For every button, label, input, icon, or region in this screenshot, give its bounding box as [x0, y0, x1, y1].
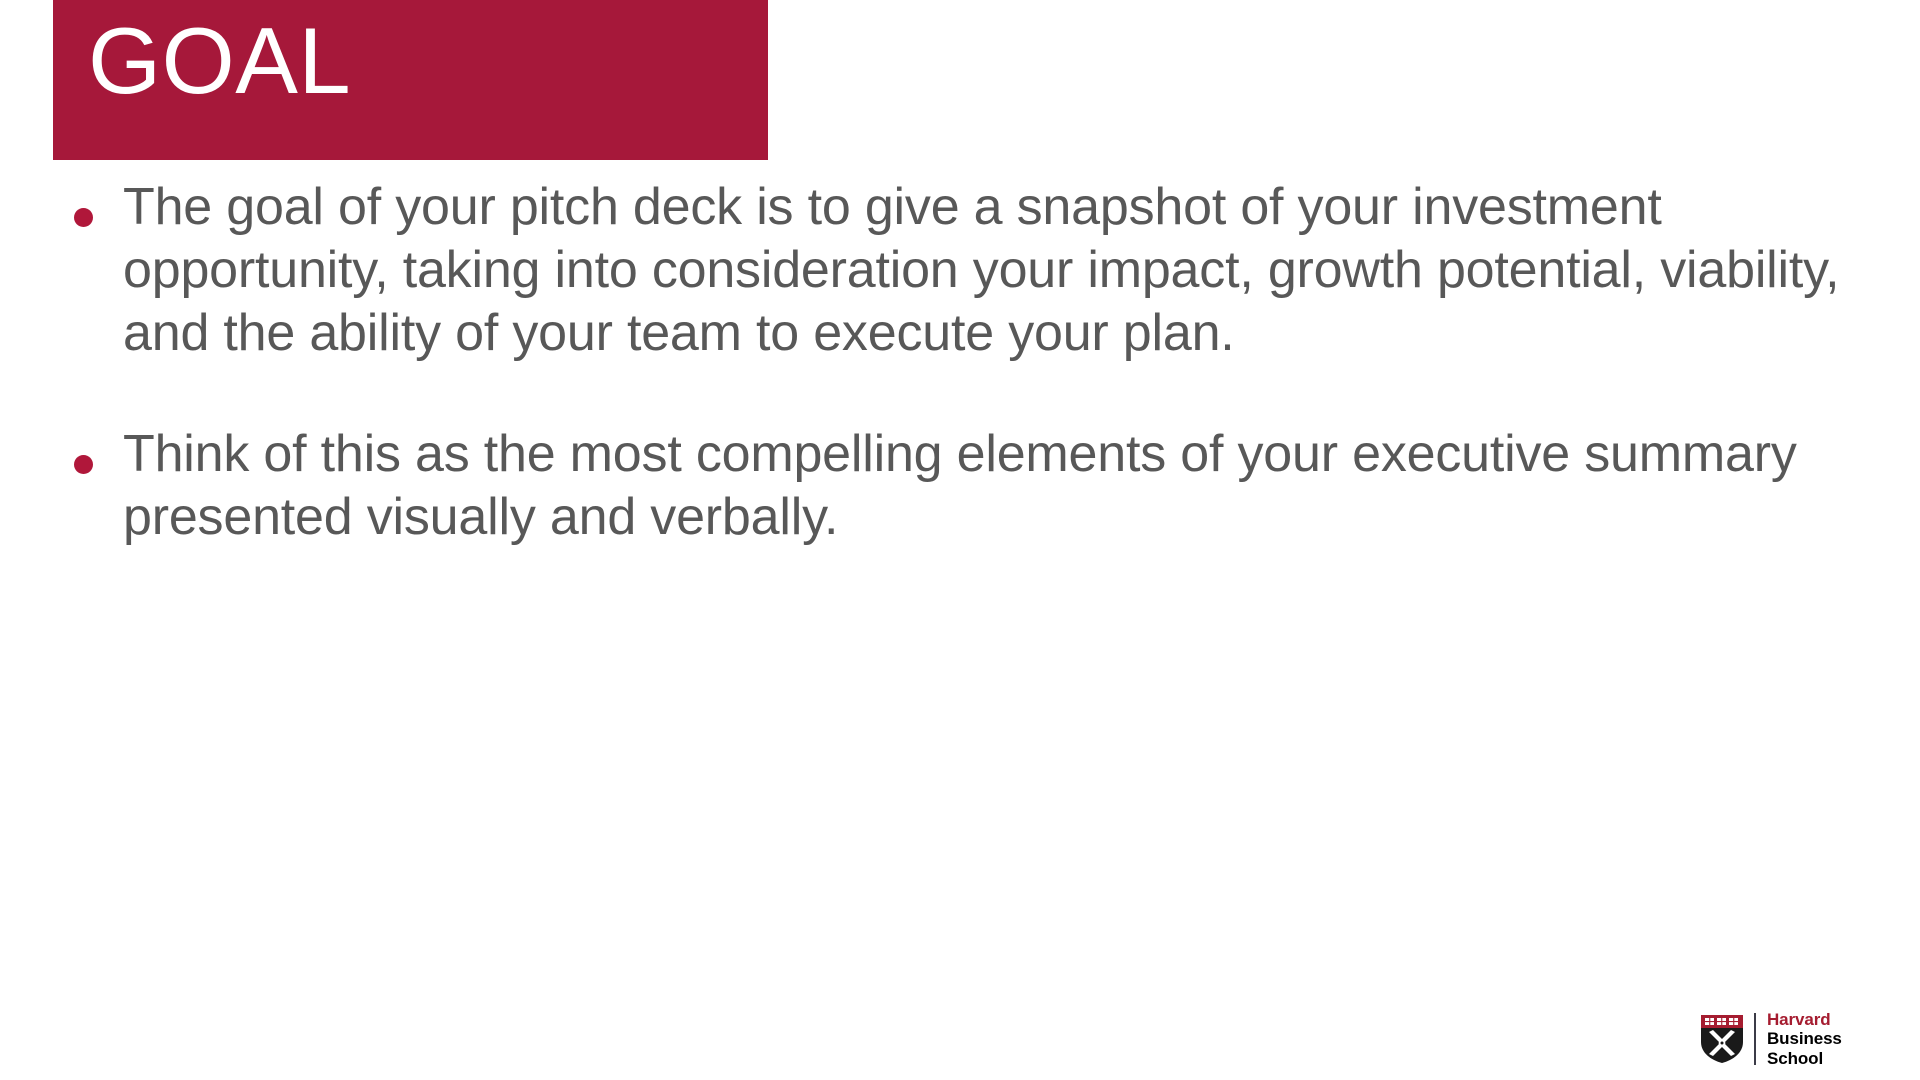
presentation-slide: GOAL The goal of your pitch deck is to g…: [0, 0, 1920, 1080]
list-item: The goal of your pitch deck is to give a…: [53, 176, 1863, 365]
logo-word-harvard: Harvard: [1767, 1010, 1842, 1029]
page-title: GOAL: [88, 14, 351, 108]
bullet-text: The goal of your pitch deck is to give a…: [123, 176, 1853, 365]
harvard-business-school-logo: Harvard Business School: [1700, 1008, 1900, 1070]
bullet-text: Think of this as the most compelling ele…: [123, 423, 1853, 549]
slide-body-content: The goal of your pitch deck is to give a…: [53, 176, 1863, 549]
logo-divider: [1754, 1013, 1756, 1065]
slide-title-banner: GOAL: [53, 0, 768, 160]
harvard-veritas-shield-icon: [1700, 1014, 1744, 1064]
bullet-dot-icon: [74, 208, 93, 227]
list-item: Think of this as the most compelling ele…: [53, 423, 1863, 549]
logo-word-business: Business: [1767, 1029, 1842, 1048]
logo-word-school: School: [1767, 1049, 1842, 1068]
logo-wordmark: Harvard Business School: [1767, 1010, 1842, 1067]
bullet-dot-icon: [74, 455, 93, 474]
